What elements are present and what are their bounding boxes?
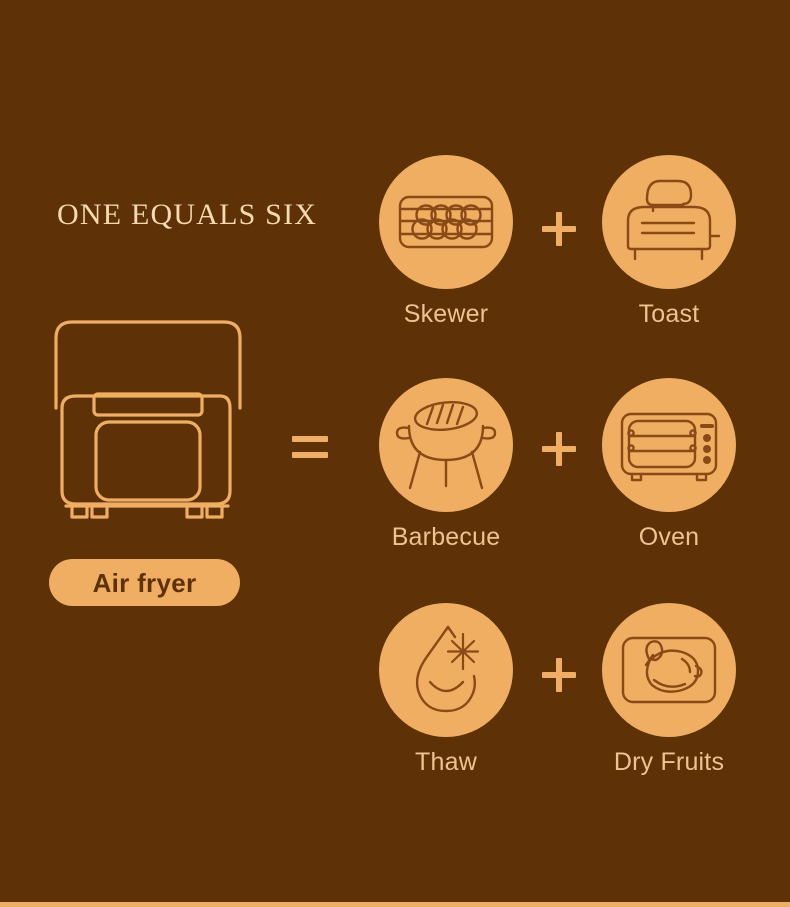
equals-sign <box>292 432 328 462</box>
equals-bar-top <box>292 436 328 442</box>
page-title: ONE EQUALS SIX <box>57 198 317 232</box>
feature-cell-dry-fruits[interactable]: Dry Fruits <box>569 603 769 777</box>
air-fryer-label-pill[interactable]: Air fryer <box>49 559 240 606</box>
thaw-droplet-snowflake-icon <box>379 603 513 737</box>
plus-vertical-bar <box>556 658 562 692</box>
feature-cell-toast[interactable]: Toast <box>569 155 769 329</box>
air-fryer-icon <box>52 316 244 528</box>
poster-canvas: ONE EQUALS SIX Air fryer <box>0 0 790 907</box>
feature-label-barbecue: Barbecue <box>346 524 546 552</box>
plus-vertical-bar <box>556 432 562 466</box>
equals-bar-bottom <box>292 452 328 458</box>
feature-cell-thaw[interactable]: Thaw <box>346 603 546 777</box>
oven-icon <box>602 378 736 512</box>
toaster-icon <box>602 155 736 289</box>
feature-label-skewer: Skewer <box>346 301 546 329</box>
feature-label-oven: Oven <box>569 524 769 552</box>
dry-fruits-lemon-tray-icon <box>602 603 736 737</box>
feature-label-toast: Toast <box>569 301 769 329</box>
feature-label-thaw: Thaw <box>346 749 546 777</box>
feature-cell-skewer[interactable]: Skewer <box>346 155 546 329</box>
feature-label-dry-fruits: Dry Fruits <box>569 749 769 777</box>
feature-cell-oven[interactable]: Oven <box>569 378 769 552</box>
skewer-grill-icon <box>379 155 513 289</box>
plus-vertical-bar <box>556 212 562 246</box>
air-fryer-label: Air fryer <box>93 570 197 596</box>
barbecue-grill-icon <box>379 378 513 512</box>
bottom-accent-strip <box>0 902 790 907</box>
feature-cell-barbecue[interactable]: Barbecue <box>346 378 546 552</box>
